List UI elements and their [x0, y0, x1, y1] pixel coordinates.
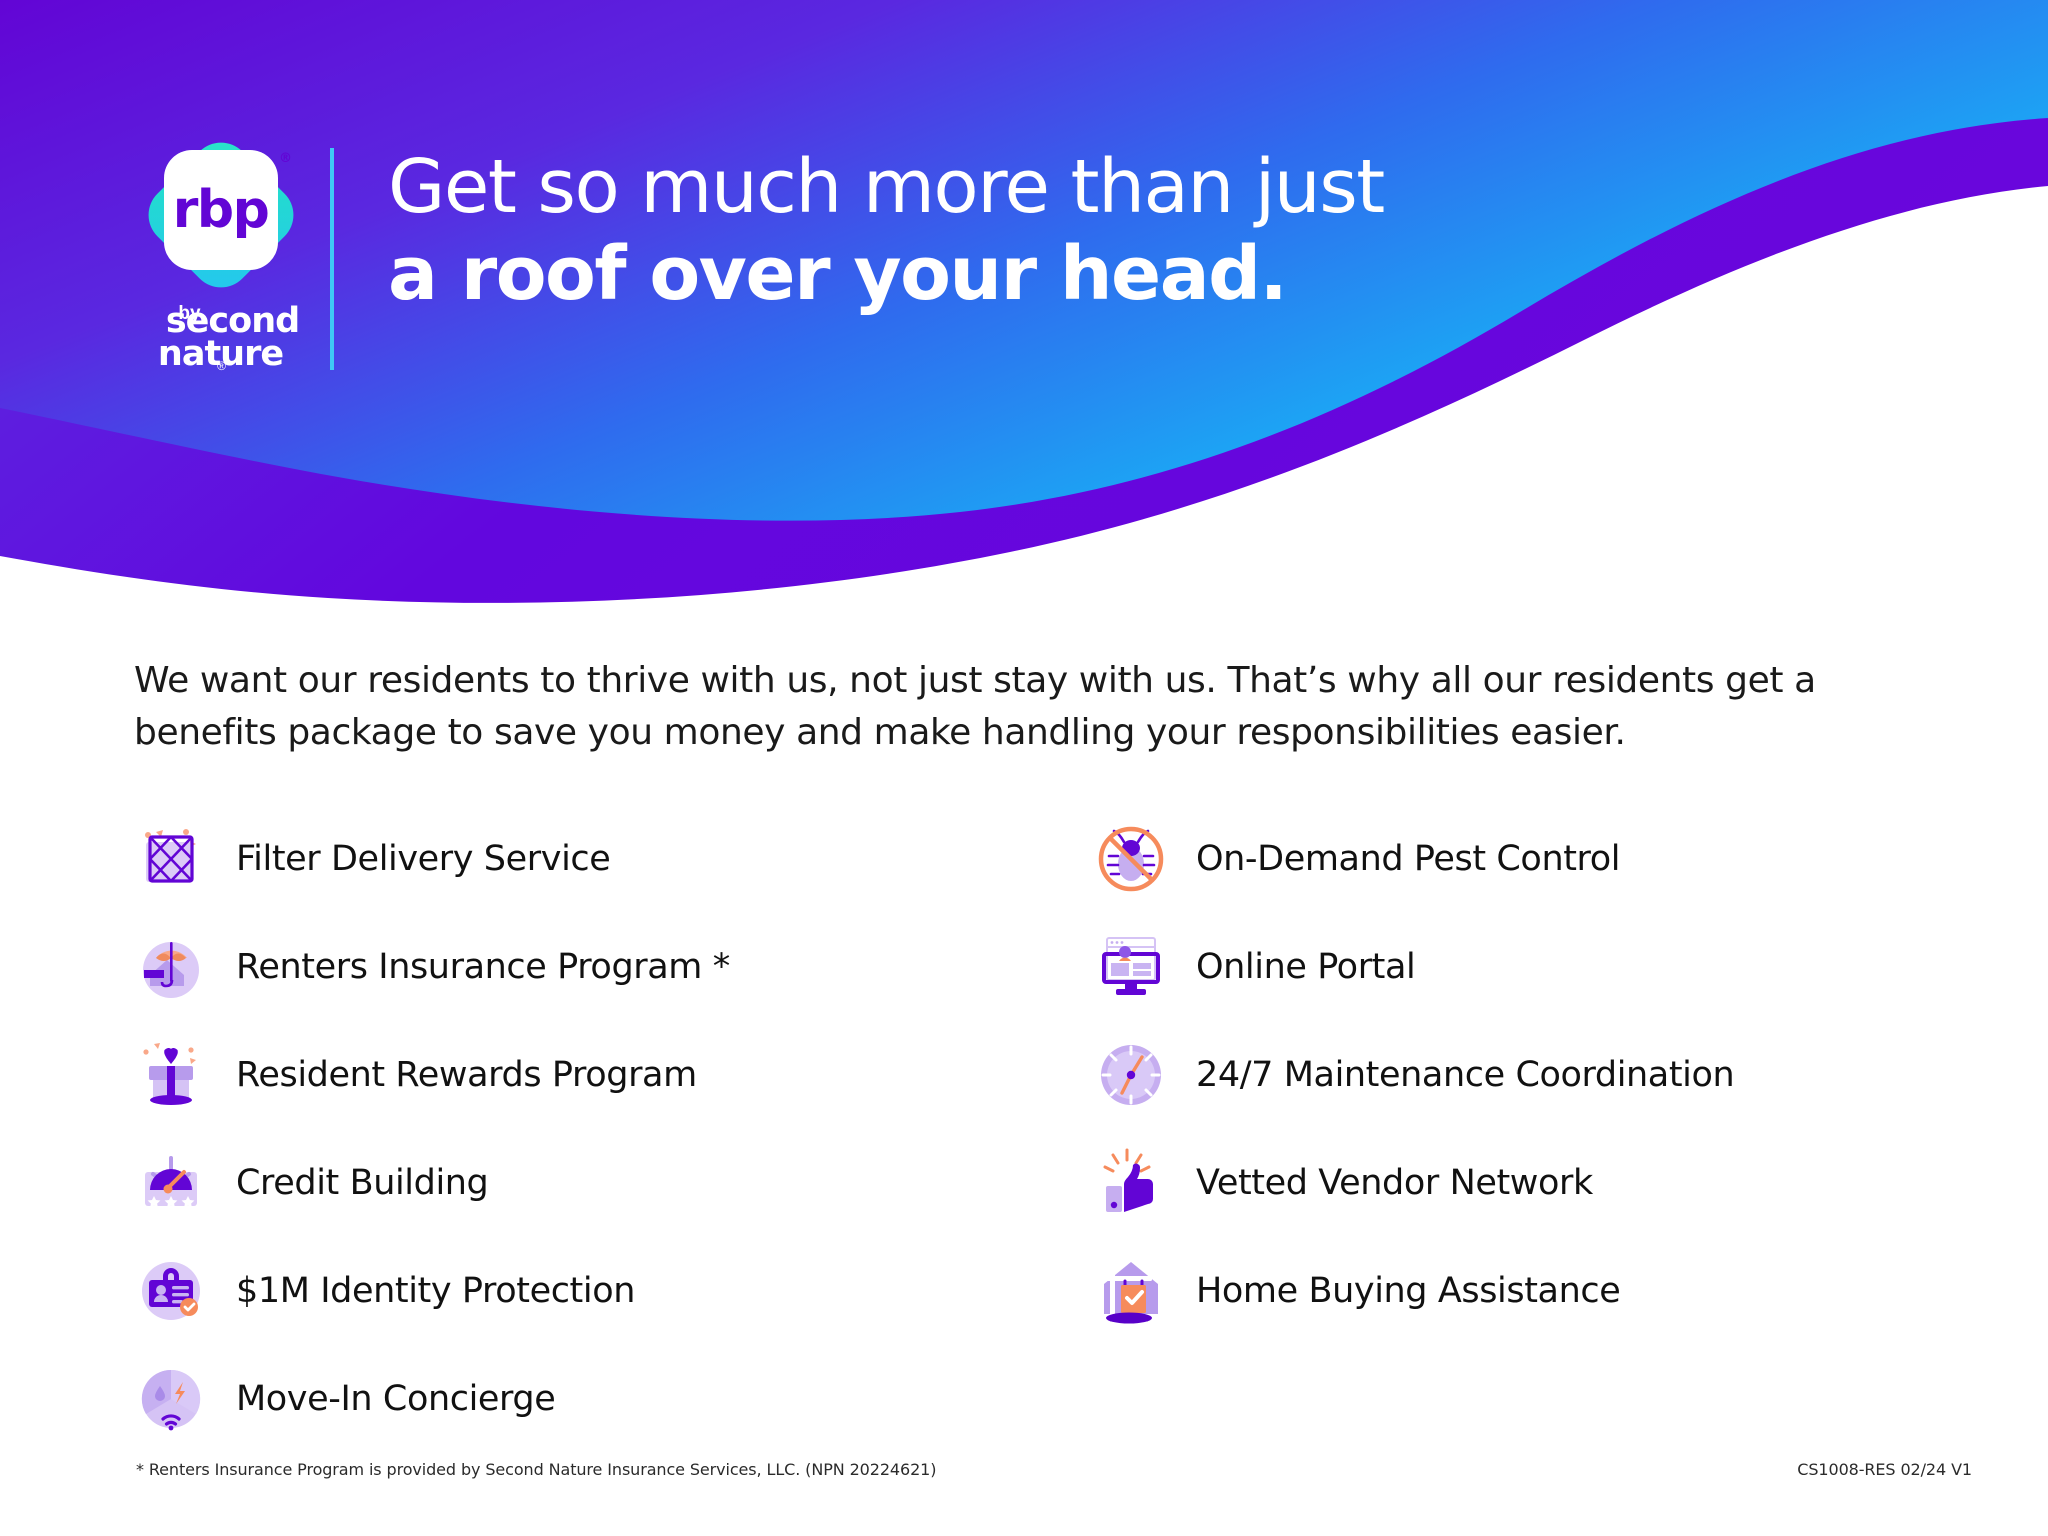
benefit-label: 24/7 Maintenance Coordination [1196, 1055, 1734, 1095]
hero-headline: Get so much more than just a roof over y… [388, 146, 1384, 316]
logo-rbp-text: rbp [173, 184, 269, 236]
benefit-label: Online Portal [1196, 947, 1415, 987]
umbrella-house-icon [134, 930, 208, 1004]
logo-second-text: second [152, 305, 313, 338]
rbp-logo-mark: rbp® [146, 140, 296, 290]
benefit-item-identity-protection: $1M Identity Protection [134, 1237, 1094, 1345]
benefit-label: Renters Insurance Program * [236, 947, 730, 987]
intro-paragraph: We want our residents to thrive with us,… [134, 655, 1894, 759]
no-bug-icon [1094, 822, 1168, 896]
logo-registered-mark: ® [279, 152, 291, 165]
benefit-label: Vetted Vendor Network [1196, 1163, 1593, 1203]
gift-box-icon [134, 1038, 208, 1112]
benefit-label: Credit Building [236, 1163, 488, 1203]
house-sale-sign-icon [1094, 1254, 1168, 1328]
benefits-right-column: On-Demand Pest Control [1094, 805, 1924, 1453]
benefit-item-renters-insurance-program: Renters Insurance Program * [134, 913, 1094, 1021]
flyer-page: rbp® by second nature® Get so much more … [0, 0, 2048, 1536]
logo-white-square: rbp® [164, 150, 278, 270]
benefit-label: Home Buying Assistance [1196, 1271, 1620, 1311]
headline-line-1: Get so much more than just [388, 146, 1384, 229]
footer-document-code: CS1008-RES 02/24 V1 [1797, 1460, 1972, 1479]
benefit-label: $1M Identity Protection [236, 1271, 635, 1311]
benefit-label: Resident Rewards Program [236, 1055, 697, 1095]
hero-vertical-divider [330, 148, 334, 370]
benefit-item-credit-building: Credit Building [134, 1129, 1094, 1237]
utilities-wifi-icon [134, 1362, 208, 1436]
credit-gauge-icon [134, 1146, 208, 1220]
logo-nature-registered-mark: ® [217, 359, 226, 373]
monitor-person-icon [1094, 930, 1168, 1004]
hero-banner: rbp® by second nature® Get so much more … [0, 0, 2048, 620]
benefit-label: Filter Delivery Service [236, 839, 610, 879]
rbp-logo: rbp® by second nature® [128, 140, 313, 380]
benefits-list: Filter Delivery Service Renters Insuranc… [134, 805, 1924, 1453]
clock-icon [1094, 1038, 1168, 1112]
benefit-item-move-in-concierge: Move-In Concierge [134, 1345, 1094, 1453]
benefit-label: On-Demand Pest Control [1196, 839, 1620, 879]
benefit-item-online-portal: Online Portal [1094, 913, 1924, 1021]
thumbs-up-icon [1094, 1146, 1168, 1220]
footer-disclaimer: * Renters Insurance Program is provided … [136, 1460, 936, 1479]
air-filter-icon [134, 822, 208, 896]
benefits-left-column: Filter Delivery Service Renters Insuranc… [134, 805, 1094, 1453]
benefit-item-filter-delivery-service: Filter Delivery Service [134, 805, 1094, 913]
benefit-item-vetted-vendor-network: Vetted Vendor Network [1094, 1129, 1924, 1237]
benefit-item-maintenance-coordination: 24/7 Maintenance Coordination [1094, 1021, 1924, 1129]
benefit-label: Move-In Concierge [236, 1379, 555, 1419]
logo-byline: by second nature® [128, 304, 313, 388]
benefit-item-on-demand-pest-control: On-Demand Pest Control [1094, 805, 1924, 913]
benefit-item-home-buying-assistance: Home Buying Assistance [1094, 1237, 1924, 1345]
headline-line-2: a roof over your head. [388, 233, 1384, 316]
id-badge-check-icon [134, 1254, 208, 1328]
benefit-item-resident-rewards-program: Resident Rewards Program [134, 1021, 1094, 1129]
